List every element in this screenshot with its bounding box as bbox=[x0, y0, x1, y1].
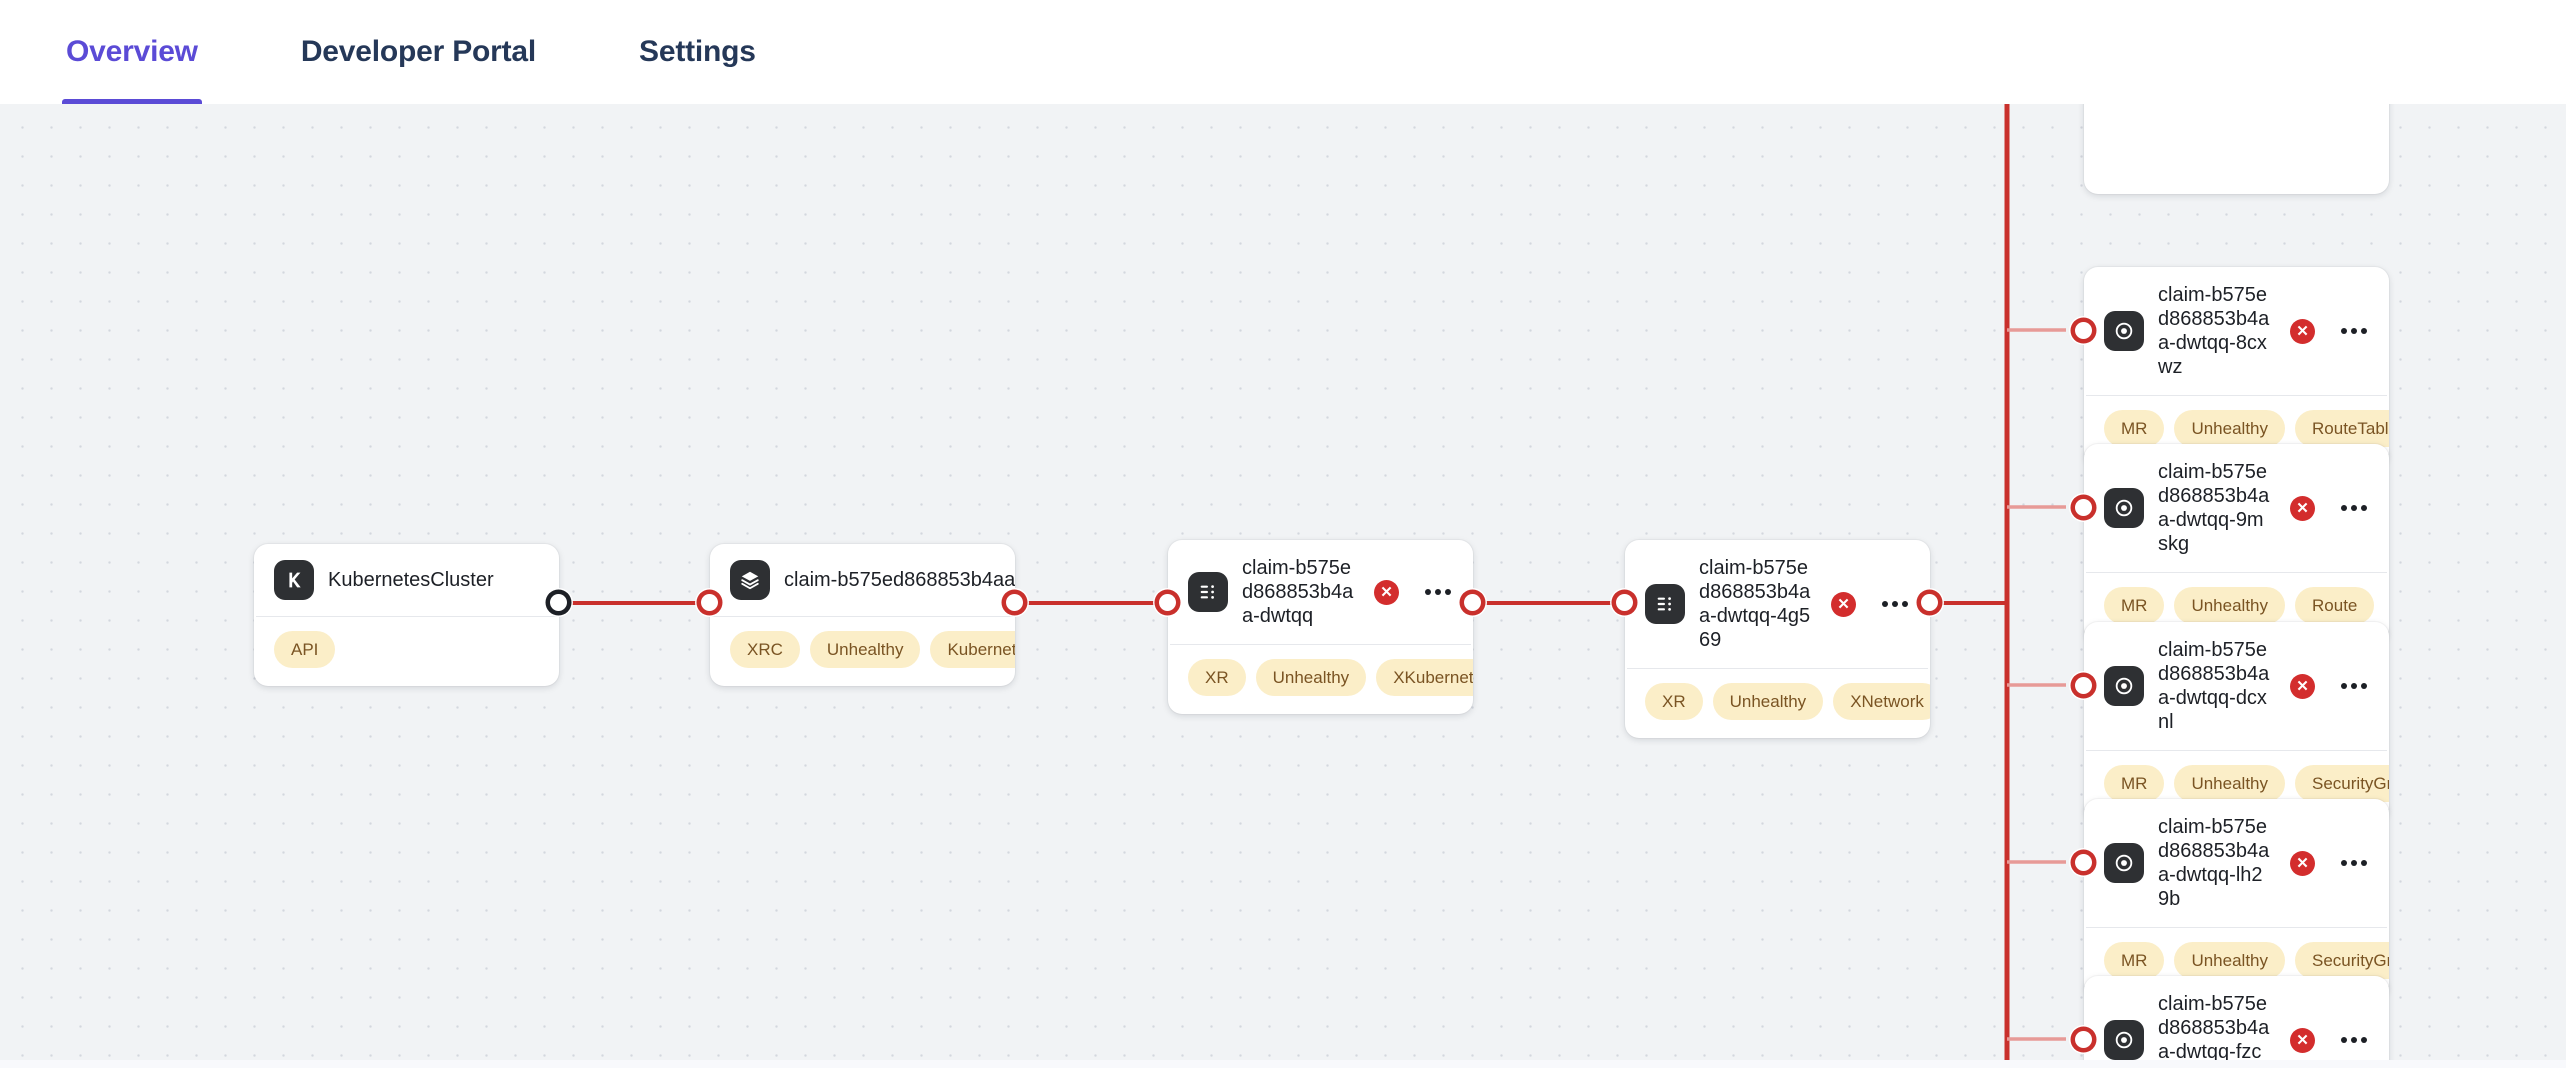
node-title: claim-b575ed868853b4aa-dwtqq-8cxwz bbox=[2158, 283, 2270, 379]
resource-graph-canvas[interactable]: KubernetesCluster API claim-b575ed868853… bbox=[0, 104, 2566, 1068]
node-handle-left[interactable] bbox=[1616, 594, 1633, 611]
badge-kind: XR bbox=[1188, 659, 1246, 696]
node-menu-button[interactable] bbox=[2337, 1027, 2371, 1053]
badge-kind: MR bbox=[2104, 942, 2164, 979]
list-icon bbox=[1188, 572, 1228, 612]
node-partial-top[interactable] bbox=[2084, 104, 2389, 194]
list-icon bbox=[1645, 584, 1685, 624]
node-header: claim-b575ed868853b4aa-dwtqq-dcxnl ✕ bbox=[2084, 622, 2389, 750]
tab-overview-label: Overview bbox=[66, 35, 198, 69]
node-handle-left[interactable] bbox=[1159, 594, 1176, 611]
target-icon bbox=[2104, 843, 2144, 883]
node-handle-right[interactable] bbox=[1921, 594, 1938, 611]
badge-kind: MR bbox=[2104, 587, 2164, 624]
node-claim-mr-lh29b[interactable]: claim-b575ed868853b4aa-dwtqq-lh29b ✕ MR … bbox=[2084, 799, 2389, 997]
node-header: claim-b575ed868853b4aa-dwtqq-9mskg ✕ bbox=[2084, 444, 2389, 572]
tab-overview[interactable]: Overview bbox=[62, 0, 202, 104]
node-header: KubernetesCluster bbox=[254, 544, 559, 616]
node-header: claim-b575ed868853b4aa-dwtqq-4g569 ✕ bbox=[1625, 540, 1930, 668]
node-menu-button[interactable] bbox=[1878, 591, 1912, 617]
badge-type: SecurityGroupRule bbox=[2295, 942, 2389, 979]
node-menu-button[interactable] bbox=[2337, 318, 2371, 344]
node-title: claim-b575ed868853b4aa-dwtqq-fzcd6 bbox=[2158, 992, 2270, 1068]
node-claim-mr-dcxnl[interactable]: claim-b575ed868853b4aa-dwtqq-dcxnl ✕ MR … bbox=[2084, 622, 2389, 820]
error-status-icon[interactable]: ✕ bbox=[1374, 580, 1399, 605]
node-title: claim-b575ed868853b4aa-dwtqq-4g569 bbox=[1699, 556, 1811, 652]
node-claim-xr-dwtqq[interactable]: claim-b575ed868853b4aa-dwtqq ✕ XR Unheal… bbox=[1168, 540, 1473, 714]
node-header: claim-b575ed868853b4aa-dwtqq-8cxwz ✕ bbox=[2084, 267, 2389, 395]
badge-type: KubernetesCluster bbox=[930, 631, 1015, 668]
node-header: claim-b575ed868853b4aa-dwtqq ✕ bbox=[1168, 540, 1473, 644]
error-status-icon[interactable]: ✕ bbox=[1831, 592, 1856, 617]
node-handle-left[interactable] bbox=[2075, 677, 2092, 694]
error-status-icon[interactable]: ✕ bbox=[2290, 674, 2315, 699]
main-tab-bar: Overview Developer Portal Settings bbox=[0, 0, 2566, 104]
kubernetes-k-icon bbox=[274, 560, 314, 600]
node-badges: XR Unhealthy XNetwork bbox=[1625, 669, 1930, 738]
node-menu-button[interactable] bbox=[1421, 579, 1455, 605]
node-title: claim-b575ed868853b4aa-dwtqq-lh29b bbox=[2158, 815, 2270, 911]
node-menu-button[interactable] bbox=[2337, 495, 2371, 521]
badge-kind: XR bbox=[1645, 683, 1703, 720]
node-handle-left[interactable] bbox=[701, 594, 718, 611]
node-handle-right[interactable] bbox=[1464, 594, 1481, 611]
error-status-icon[interactable]: ✕ bbox=[2290, 851, 2315, 876]
canvas-footer bbox=[0, 1060, 2566, 1068]
layers-icon bbox=[730, 560, 770, 600]
node-title: claim-b575ed868853b4aa-dwtqq bbox=[1242, 556, 1354, 628]
node-header: claim-b575ed868853b4aa-dwtqq-lh29b ✕ bbox=[2084, 799, 2389, 927]
target-icon bbox=[2104, 311, 2144, 351]
node-title: KubernetesCluster bbox=[328, 568, 541, 592]
badge-type: XNetwork bbox=[1833, 683, 1930, 720]
node-kubernetescluster[interactable]: KubernetesCluster API bbox=[254, 544, 559, 686]
badge-kind: MR bbox=[2104, 410, 2164, 447]
node-menu-button[interactable] bbox=[2337, 673, 2371, 699]
node-menu-button[interactable] bbox=[2337, 850, 2371, 876]
badge-kind: MR bbox=[2104, 765, 2164, 802]
badge-health: Unhealthy bbox=[2174, 765, 2285, 802]
node-claim-mr-fzcd6[interactable]: claim-b575ed868853b4aa-dwtqq-fzcd6 ✕ MR … bbox=[2084, 976, 2389, 1068]
target-icon bbox=[2104, 1020, 2144, 1060]
badge-health: Unhealthy bbox=[2174, 587, 2285, 624]
tab-settings[interactable]: Settings bbox=[635, 0, 760, 104]
badge-health: Unhealthy bbox=[810, 631, 921, 668]
node-header: claim-b575ed868853b4aa-dwtqq-fzcd6 ✕ bbox=[2084, 976, 2389, 1068]
badge-type: Route bbox=[2295, 587, 2374, 624]
badge-type: XKubernetesCluster bbox=[1376, 659, 1473, 696]
badge-health: Unhealthy bbox=[2174, 410, 2285, 447]
node-handle-right[interactable] bbox=[1006, 594, 1023, 611]
node-claim-xr-4g569[interactable]: claim-b575ed868853b4aa-dwtqq-4g569 ✕ XR … bbox=[1625, 540, 1930, 738]
node-header: claim-b575ed868853b4aa ✕ bbox=[710, 544, 1015, 616]
node-handle-left[interactable] bbox=[2075, 322, 2092, 339]
badge-health: Unhealthy bbox=[2174, 942, 2285, 979]
badge: API bbox=[274, 631, 335, 668]
tab-developer-portal[interactable]: Developer Portal bbox=[297, 0, 540, 104]
node-badges: XRC Unhealthy KubernetesCluster bbox=[710, 617, 1015, 686]
target-icon bbox=[2104, 666, 2144, 706]
node-title: claim-b575ed868853b4aa-dwtqq-9mskg bbox=[2158, 460, 2270, 556]
badge-type: RouteTable bbox=[2295, 410, 2389, 447]
badge-health: Unhealthy bbox=[1256, 659, 1367, 696]
node-badges: XR Unhealthy XKubernetesCluster bbox=[1168, 645, 1473, 714]
badge-health: Unhealthy bbox=[1713, 683, 1824, 720]
node-claim-mr-9mskg[interactable]: claim-b575ed868853b4aa-dwtqq-9mskg ✕ MR … bbox=[2084, 444, 2389, 642]
node-handle-left[interactable] bbox=[2075, 854, 2092, 871]
node-handle-left[interactable] bbox=[2075, 1031, 2092, 1048]
error-status-icon[interactable]: ✕ bbox=[2290, 496, 2315, 521]
badge-type: SecurityGroupRule bbox=[2295, 765, 2389, 802]
node-handle-right[interactable] bbox=[550, 594, 567, 611]
error-status-icon[interactable]: ✕ bbox=[2290, 1028, 2315, 1053]
node-claim-mr-8cxwz[interactable]: claim-b575ed868853b4aa-dwtqq-8cxwz ✕ MR … bbox=[2084, 267, 2389, 465]
node-title: claim-b575ed868853b4aa bbox=[784, 568, 1015, 592]
node-handle-left[interactable] bbox=[2075, 499, 2092, 516]
badge-kind: XRC bbox=[730, 631, 800, 668]
error-status-icon[interactable]: ✕ bbox=[2290, 319, 2315, 344]
tab-developer-portal-label: Developer Portal bbox=[301, 35, 536, 69]
node-badges: API bbox=[254, 617, 559, 686]
node-claim-xrc[interactable]: claim-b575ed868853b4aa ✕ XRC Unhealthy K… bbox=[710, 544, 1015, 686]
target-icon bbox=[2104, 488, 2144, 528]
node-title: claim-b575ed868853b4aa-dwtqq-dcxnl bbox=[2158, 638, 2270, 734]
tab-settings-label: Settings bbox=[639, 35, 756, 69]
